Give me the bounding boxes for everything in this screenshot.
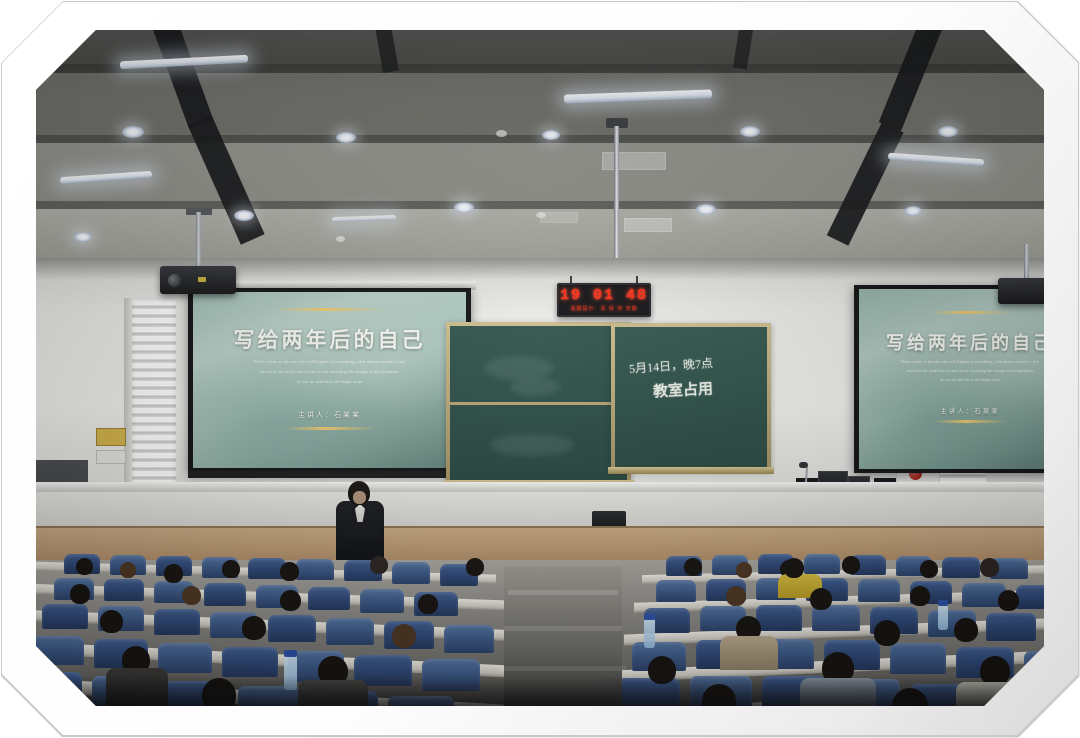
audience-head xyxy=(76,558,93,575)
audience-head xyxy=(980,558,999,577)
water-bottle-cap xyxy=(284,650,297,657)
projection-screen-right[interactable]: 写给两年后的自己 Write a letter to the one who w… xyxy=(859,289,1044,469)
seat xyxy=(1024,651,1044,683)
audience-head xyxy=(998,590,1019,611)
audience-head xyxy=(392,624,416,648)
water-bottle-cap xyxy=(644,614,655,620)
audience-head xyxy=(466,558,484,576)
blackboard-text-line2: 教室占用 xyxy=(652,377,713,401)
slide-presenter: 主讲人：石某某 xyxy=(193,410,466,420)
aisle-step-3 xyxy=(500,666,626,671)
ceiling-downlight-1 xyxy=(122,126,144,138)
audience-head xyxy=(684,558,702,576)
audience-head xyxy=(164,564,183,583)
aisle-step-1 xyxy=(508,590,618,595)
seat xyxy=(326,618,374,645)
blackboard-text-line1: 5月14日，晚7点 xyxy=(629,354,714,377)
projector-left-pole xyxy=(196,212,201,270)
audience-head xyxy=(842,556,860,574)
audience-head xyxy=(874,620,900,646)
projector-left-lens-icon xyxy=(168,274,181,287)
audience-head xyxy=(370,556,388,574)
audience-head xyxy=(280,590,301,611)
slide-title: 写给两年后的自己 xyxy=(193,324,466,354)
ceiling-downlight-2 xyxy=(234,210,254,221)
microphone-icon[interactable] xyxy=(799,462,808,468)
seat xyxy=(104,579,144,601)
seat xyxy=(858,579,900,602)
audience-head xyxy=(222,560,240,578)
audience-body xyxy=(720,636,778,670)
projection-screen-left[interactable]: 写给两年后的自己 Write a letter to the one who w… xyxy=(193,292,466,468)
slide-subtitle-line2-right: record in the small rise of time in our … xyxy=(875,368,1044,375)
seat xyxy=(360,589,404,613)
audience-head xyxy=(100,610,123,633)
seat xyxy=(36,636,84,665)
audience-head xyxy=(810,588,832,610)
ceiling-downlight-10 xyxy=(74,232,92,242)
projector-right-pole xyxy=(1024,244,1029,280)
ceiling-downlight-4 xyxy=(454,202,474,213)
seat xyxy=(942,557,980,578)
wall-ledge-face xyxy=(36,492,1044,528)
audience-head xyxy=(954,618,978,642)
seat xyxy=(986,613,1036,641)
smoke-detector-3 xyxy=(336,236,345,242)
blackboard-side: 5月14日，晚7点 教室占用 xyxy=(615,327,767,467)
slide-subtitle-line1: Write a letter to the one who will happe… xyxy=(212,358,447,365)
speaker-arms xyxy=(342,522,380,538)
clock-time-display: 19 01 48 xyxy=(559,287,649,304)
slide-rule-top-left-screen xyxy=(275,308,384,311)
photo-frame: 写给两年后的自己 Write a letter to the one who w… xyxy=(0,0,1080,738)
audience-head xyxy=(910,586,930,606)
water-bottle xyxy=(644,618,655,648)
seat xyxy=(204,583,246,606)
seat xyxy=(890,643,946,674)
seat xyxy=(308,587,350,610)
audience-head xyxy=(784,558,804,578)
ceiling-air-vent-2 xyxy=(624,218,672,232)
audience-head xyxy=(726,586,746,606)
seat xyxy=(158,643,212,673)
audience-head xyxy=(242,616,266,640)
ceiling-downlight-8 xyxy=(938,126,958,137)
seat xyxy=(1016,585,1044,609)
seat xyxy=(296,559,334,580)
slide-subtitle-line2: record in the small rise of time in our … xyxy=(212,368,447,375)
seat xyxy=(268,615,316,642)
wall-notice-plate xyxy=(96,428,126,446)
blackboard-side-chalk-tray xyxy=(608,467,774,474)
seat xyxy=(222,647,278,677)
slide-rule-bottom-left-screen xyxy=(283,427,376,430)
digital-led-clock: 19 01 48 温馨提示：请 保 持 安静 xyxy=(557,283,651,317)
seat xyxy=(42,604,88,629)
audience-head xyxy=(120,562,136,578)
projection-screen-left-weight-bar xyxy=(188,471,471,478)
seat xyxy=(392,562,430,584)
foreground-shadow xyxy=(36,676,1044,706)
audience-head xyxy=(418,594,438,614)
seat xyxy=(656,580,696,602)
ceiling-air-vent-1 xyxy=(602,152,666,170)
ceiling-downlight-5 xyxy=(542,130,560,140)
water-bottle-cap xyxy=(938,600,948,606)
seat xyxy=(154,609,200,635)
water-bottle xyxy=(938,604,948,630)
blackboard-main-divider xyxy=(450,402,627,405)
seat xyxy=(804,554,840,574)
ceiling-downlight-9 xyxy=(904,206,922,216)
slide-rule-bottom-right-screen xyxy=(934,420,1005,423)
ceiling-downlight-6 xyxy=(740,126,760,137)
projector-right-icon xyxy=(998,278,1044,304)
seat xyxy=(756,605,802,631)
ceiling-downlight-7 xyxy=(696,204,716,215)
audience-head xyxy=(182,586,201,605)
audience-head xyxy=(920,560,938,578)
lecture-hall-photo: 写给两年后的自己 Write a letter to the one who w… xyxy=(36,30,1044,706)
slide-presenter-right: 主讲人：石某某 xyxy=(859,405,1044,415)
slide-subtitle-line3: of you do and the to the begin write xyxy=(212,378,447,385)
wall-switch-panel[interactable] xyxy=(96,450,126,464)
smoke-detector-2 xyxy=(536,212,546,218)
wall-ledge-top xyxy=(36,482,1044,492)
audience-head xyxy=(70,584,90,604)
audience-head xyxy=(736,562,752,578)
aisle-step-2 xyxy=(504,626,622,631)
clock-caption-display: 温馨提示：请 保 持 安静 xyxy=(559,305,649,312)
seat xyxy=(444,625,494,653)
speaker-face xyxy=(353,491,366,504)
slide-subtitle-line3-right: of you do and the to the begin write xyxy=(875,377,1044,384)
smoke-detector-1 xyxy=(496,130,507,137)
ceiling-downlight-3 xyxy=(336,132,356,143)
audience-head xyxy=(280,562,299,581)
clock-hanging-pole xyxy=(614,126,619,276)
projector-left-indicator xyxy=(198,277,206,282)
slide-rule-top-right-screen xyxy=(930,311,1010,314)
slide-subtitle-line1-right: Write a letter to the one who will happe… xyxy=(875,359,1044,366)
slide-title-right: 写给两年后的自己 xyxy=(859,329,1044,355)
